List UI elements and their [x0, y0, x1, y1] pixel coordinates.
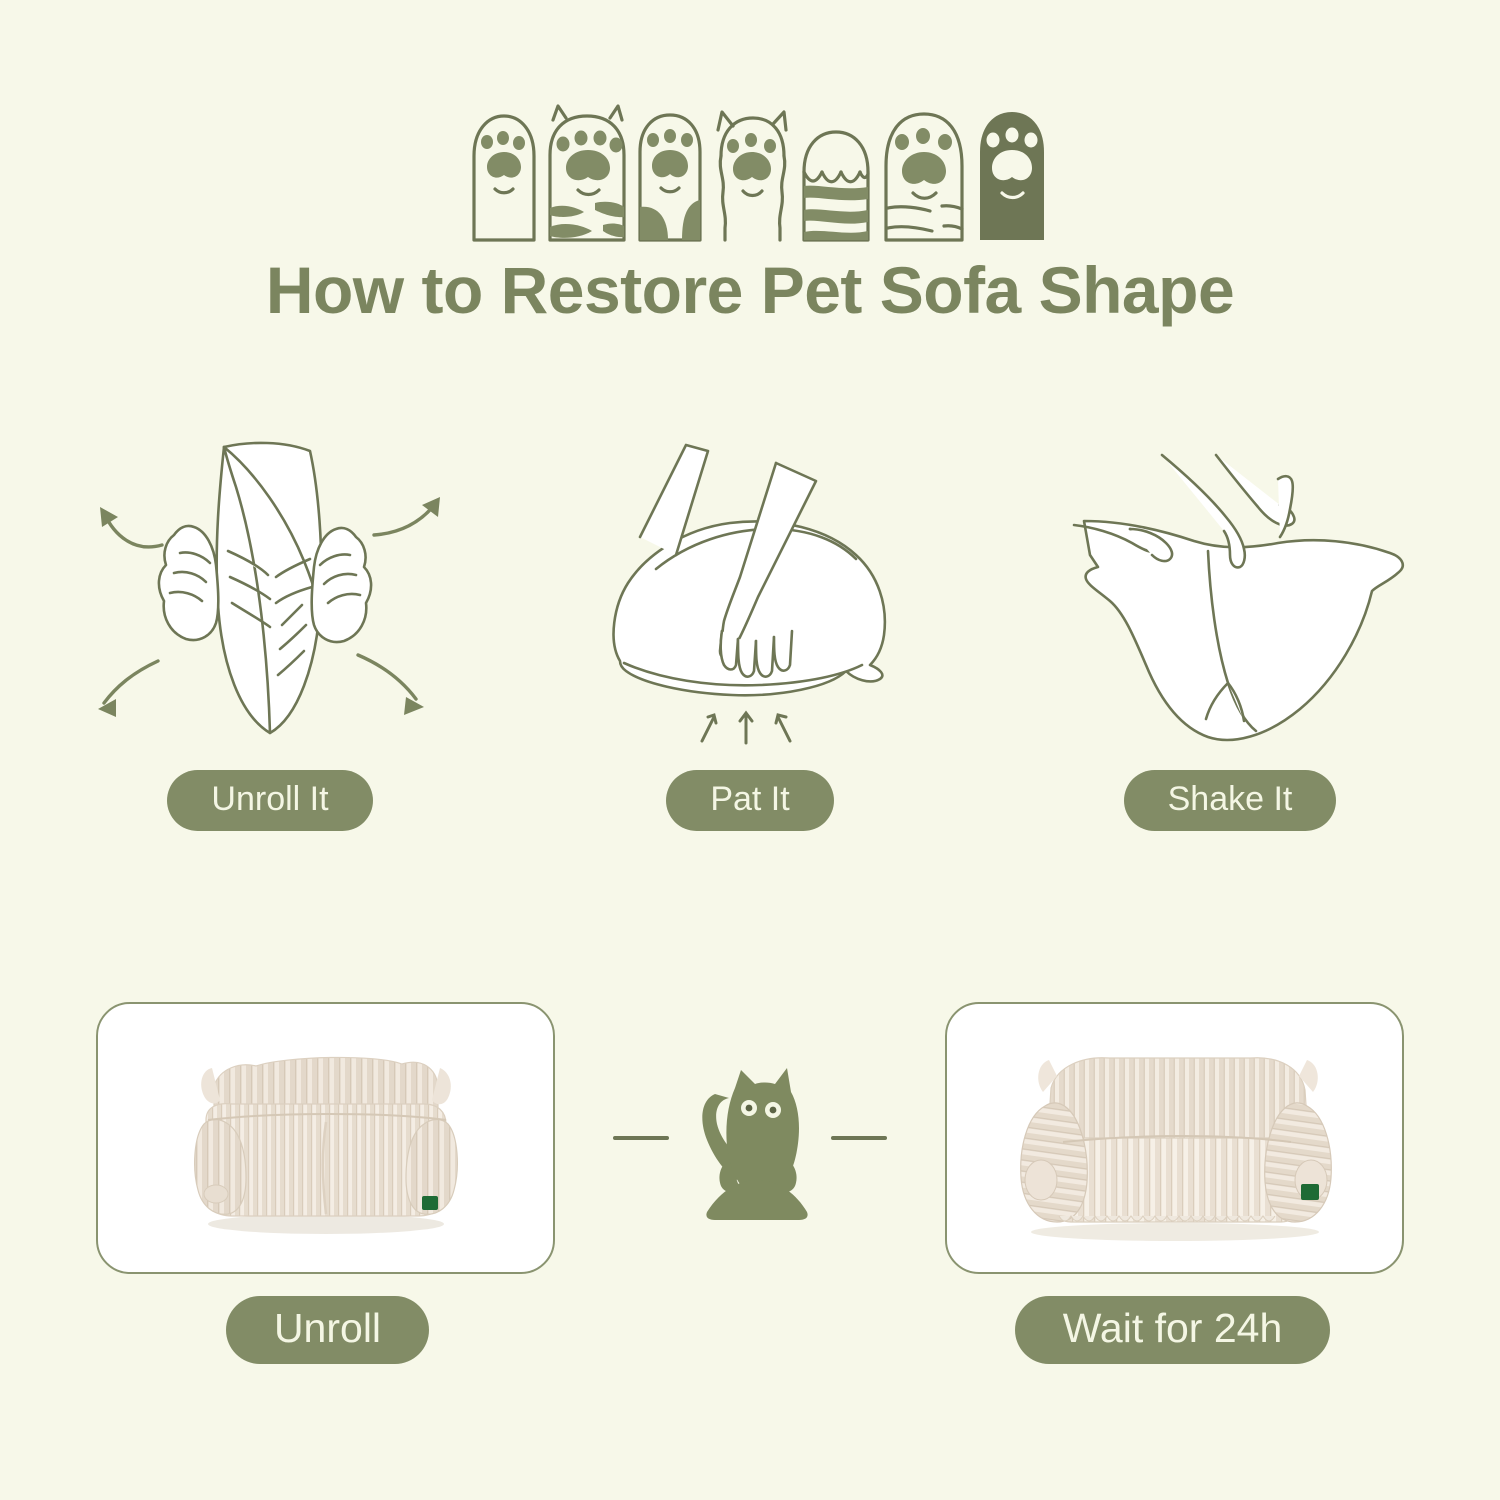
step-shake-it: Shake It: [990, 420, 1470, 831]
step-label-pat-it: Pat It: [666, 770, 833, 831]
hands-shaking-sofa-icon: [1050, 420, 1410, 770]
divider-cat-group: [555, 1004, 945, 1272]
step-label-shake-it: Shake It: [1124, 770, 1337, 831]
cat-paws-row-icon: [0, 60, 1500, 250]
arrow-down-left-icon: [98, 661, 158, 717]
step-unroll-it: Unroll It: [30, 420, 510, 831]
arrow-down-right-icon: [358, 655, 424, 715]
label-wait-for-24h: Wait for 24h: [1015, 1296, 1331, 1364]
before-after-labels: Unroll Wait for 24h: [0, 1296, 1500, 1376]
step-pat-it: Pat It: [510, 420, 990, 831]
page-title: How to Restore Pet Sofa Shape: [0, 252, 1500, 328]
hands-patting-sofa-icon: [580, 420, 920, 770]
steps-row: Unroll It: [0, 420, 1500, 860]
divider-dash-right: [831, 1136, 887, 1140]
brand-tag-icon: [1301, 1184, 1319, 1200]
brand-tag-icon: [422, 1196, 438, 1210]
label-slot-before: Unroll: [100, 1296, 555, 1364]
sitting-cat-silhouette-icon: [685, 1048, 815, 1228]
hands-unrolling-sofa-icon: [70, 420, 470, 770]
step-label-unroll-it: Unroll It: [167, 770, 372, 831]
rolled-pet-sofa-photo: [96, 1002, 555, 1274]
before-after-row: [0, 998, 1500, 1278]
expanded-pet-sofa-photo: [945, 1002, 1404, 1274]
divider-dash-left: [613, 1136, 669, 1140]
label-unroll: Unroll: [226, 1296, 429, 1364]
arrow-up-right-icon: [374, 497, 440, 535]
infographic-page: How to Restore Pet Sofa Shape: [0, 0, 1500, 1500]
arrow-up-left-icon: [100, 507, 162, 547]
arrow-up-icon: [702, 713, 790, 743]
label-slot-after: Wait for 24h: [945, 1296, 1400, 1364]
